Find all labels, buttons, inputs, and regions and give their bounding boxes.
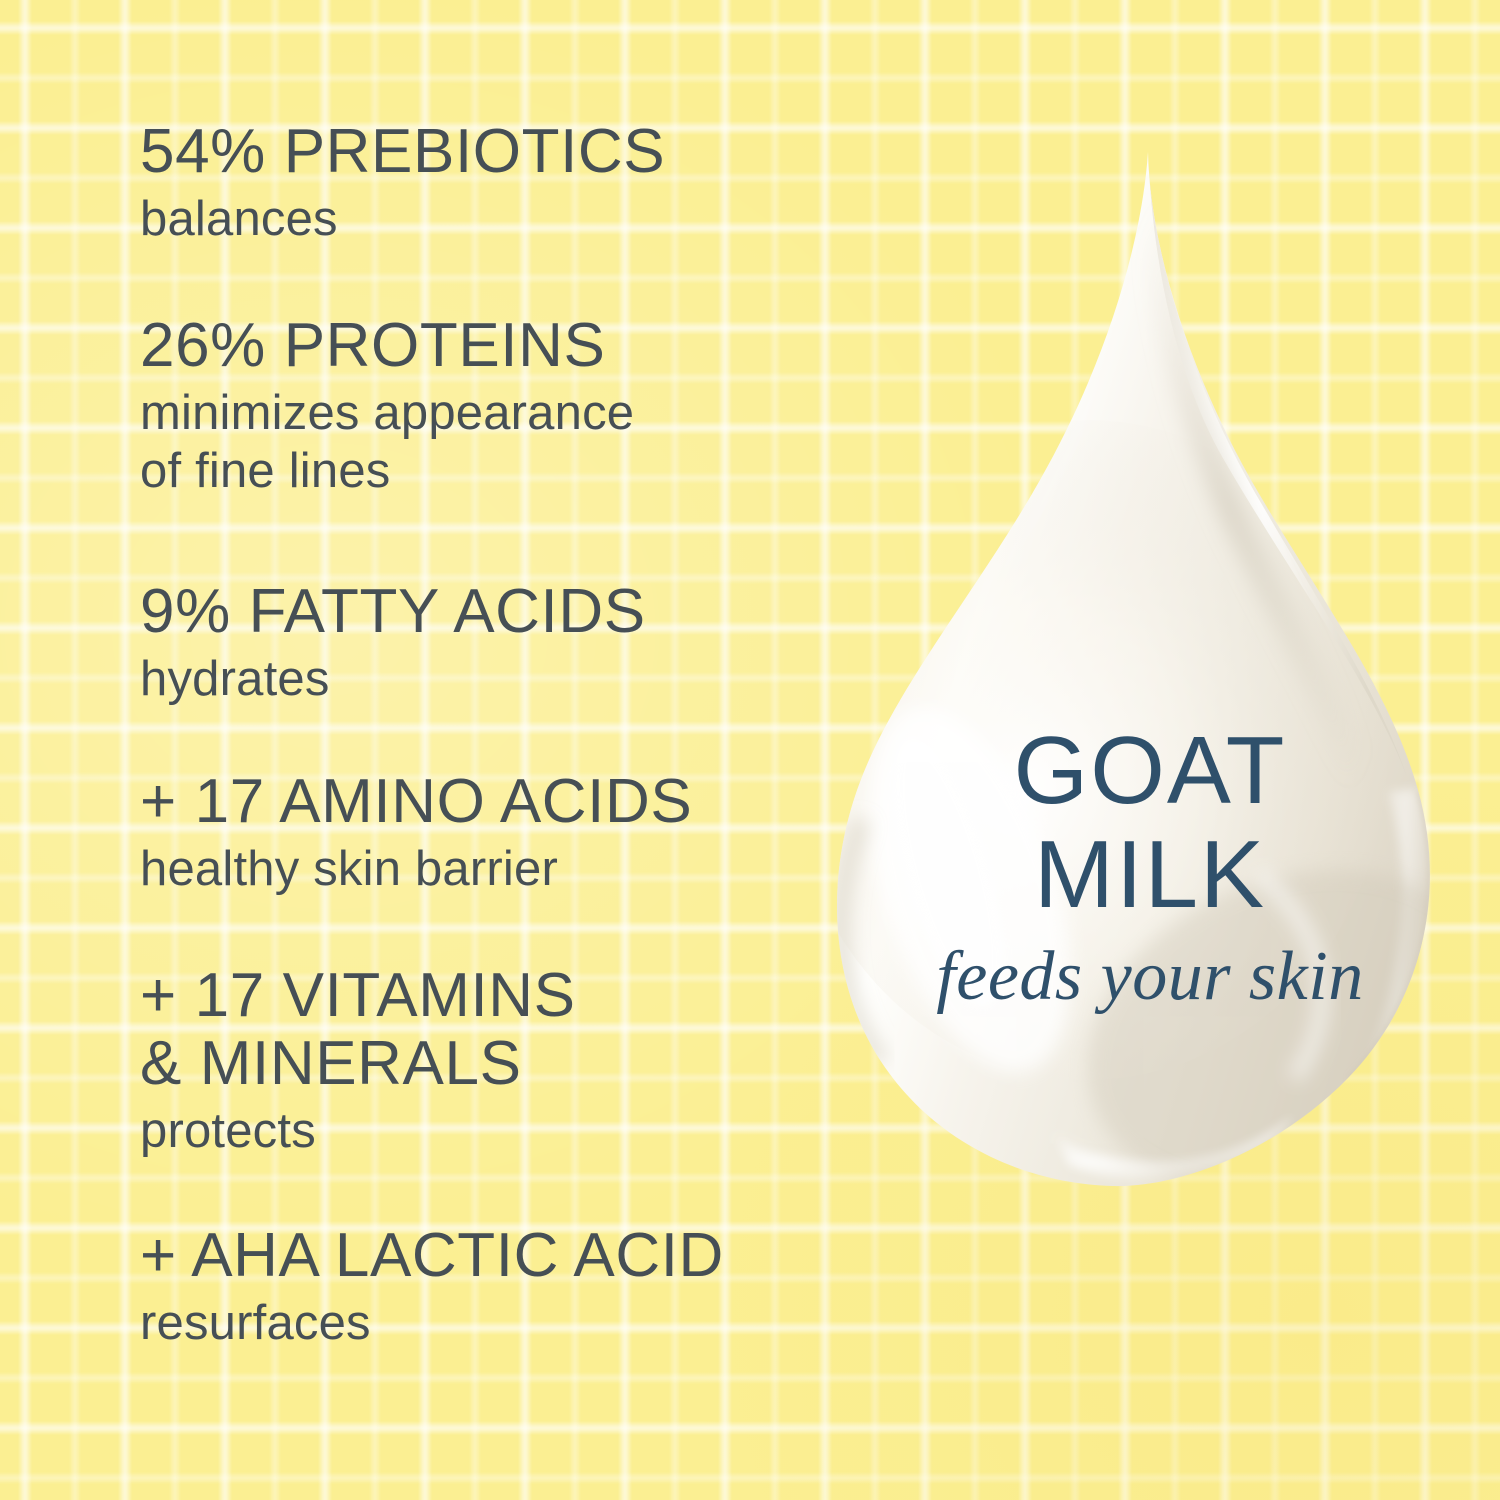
ingredient-title: + 17 AMINO ACIDS [140, 768, 692, 836]
ingredient-title: 26% PROTEINS [140, 312, 634, 380]
ingredient-item-fatty-acids: 9% FATTY ACIDS hydrates [140, 578, 646, 708]
ingredient-benefit: healthy skin barrier [140, 836, 692, 898]
ingredient-benefit: resurfaces [140, 1290, 724, 1352]
ingredient-item-vitamins-minerals: + 17 VITAMINS & MINERALS protects [140, 962, 576, 1160]
milk-droplet-icon [820, 130, 1480, 1240]
ingredient-item-amino-acids: + 17 AMINO ACIDS healthy skin barrier [140, 768, 692, 898]
milk-droplet-graphic: GOAT MILK feeds your skin [820, 130, 1480, 1240]
ingredient-benefit: hydrates [140, 646, 646, 708]
ingredient-title: 9% FATTY ACIDS [140, 578, 646, 646]
ingredient-benefit: protects [140, 1098, 576, 1160]
goat-milk-ingredient-infographic: 54% PREBIOTICS balances 26% PROTEINS min… [0, 0, 1500, 1500]
ingredient-item-aha-lactic-acid: + AHA LACTIC ACID resurfaces [140, 1222, 724, 1352]
ingredient-title: + 17 VITAMINS & MINERALS [140, 962, 576, 1098]
ingredient-title: + AHA LACTIC ACID [140, 1222, 724, 1290]
ingredient-benefit: minimizes appearance of fine lines [140, 380, 634, 500]
ingredient-title: 54% PREBIOTICS [140, 118, 665, 186]
ingredient-benefit: balances [140, 186, 665, 248]
ingredient-item-proteins: 26% PROTEINS minimizes appearance of fin… [140, 312, 634, 500]
ingredient-item-prebiotics: 54% PREBIOTICS balances [140, 118, 665, 248]
